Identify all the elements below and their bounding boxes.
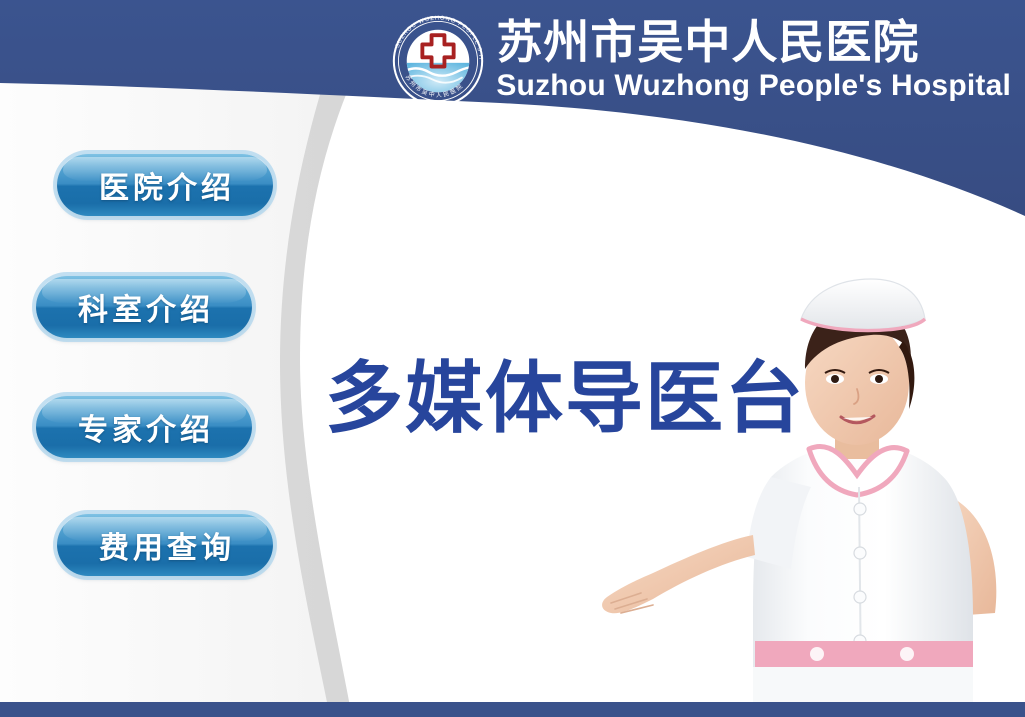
- sidebar-item-department-intro[interactable]: 科室介绍: [36, 276, 252, 338]
- sidebar-item-label: 医院介绍: [95, 163, 235, 207]
- brand-lockup: SUZHOU WUZHONG PEOPLE'S HOSPITAL 苏州市吴中人民…: [392, 13, 1011, 107]
- sidebar-item-expert-intro[interactable]: 专家介绍: [36, 396, 252, 458]
- header: SUZHOU WUZHONG PEOPLE'S HOSPITAL 苏州市吴中人民…: [0, 0, 1025, 120]
- brand-text: 苏州市吴中人民医院 Suzhou Wuzhong People's Hospit…: [496, 19, 1011, 101]
- sidebar-item-label: 科室介绍: [74, 285, 214, 329]
- kiosk-screen: SUZHOU WUZHONG PEOPLE'S HOSPITAL 苏州市吴中人民…: [0, 0, 1025, 717]
- hospital-name-cn: 苏州市吴中人民医院: [496, 19, 919, 65]
- sidebar-item-fee-inquiry[interactable]: 费用查询: [57, 514, 273, 576]
- footer-bar: [0, 702, 1025, 717]
- sidebar-item-label: 专家介绍: [74, 405, 214, 449]
- hospital-name-en: Suzhou Wuzhong People's Hospital: [496, 71, 1011, 101]
- nurse-photo: [595, 263, 1025, 703]
- hospital-emblem-icon: SUZHOU WUZHONG PEOPLE'S HOSPITAL 苏州市吴中人民…: [392, 15, 484, 107]
- page-title: 多媒体导医台: [325, 360, 805, 438]
- sidebar-item-hospital-intro[interactable]: 医院介绍: [57, 154, 273, 216]
- sidebar-item-label: 费用查询: [95, 523, 235, 567]
